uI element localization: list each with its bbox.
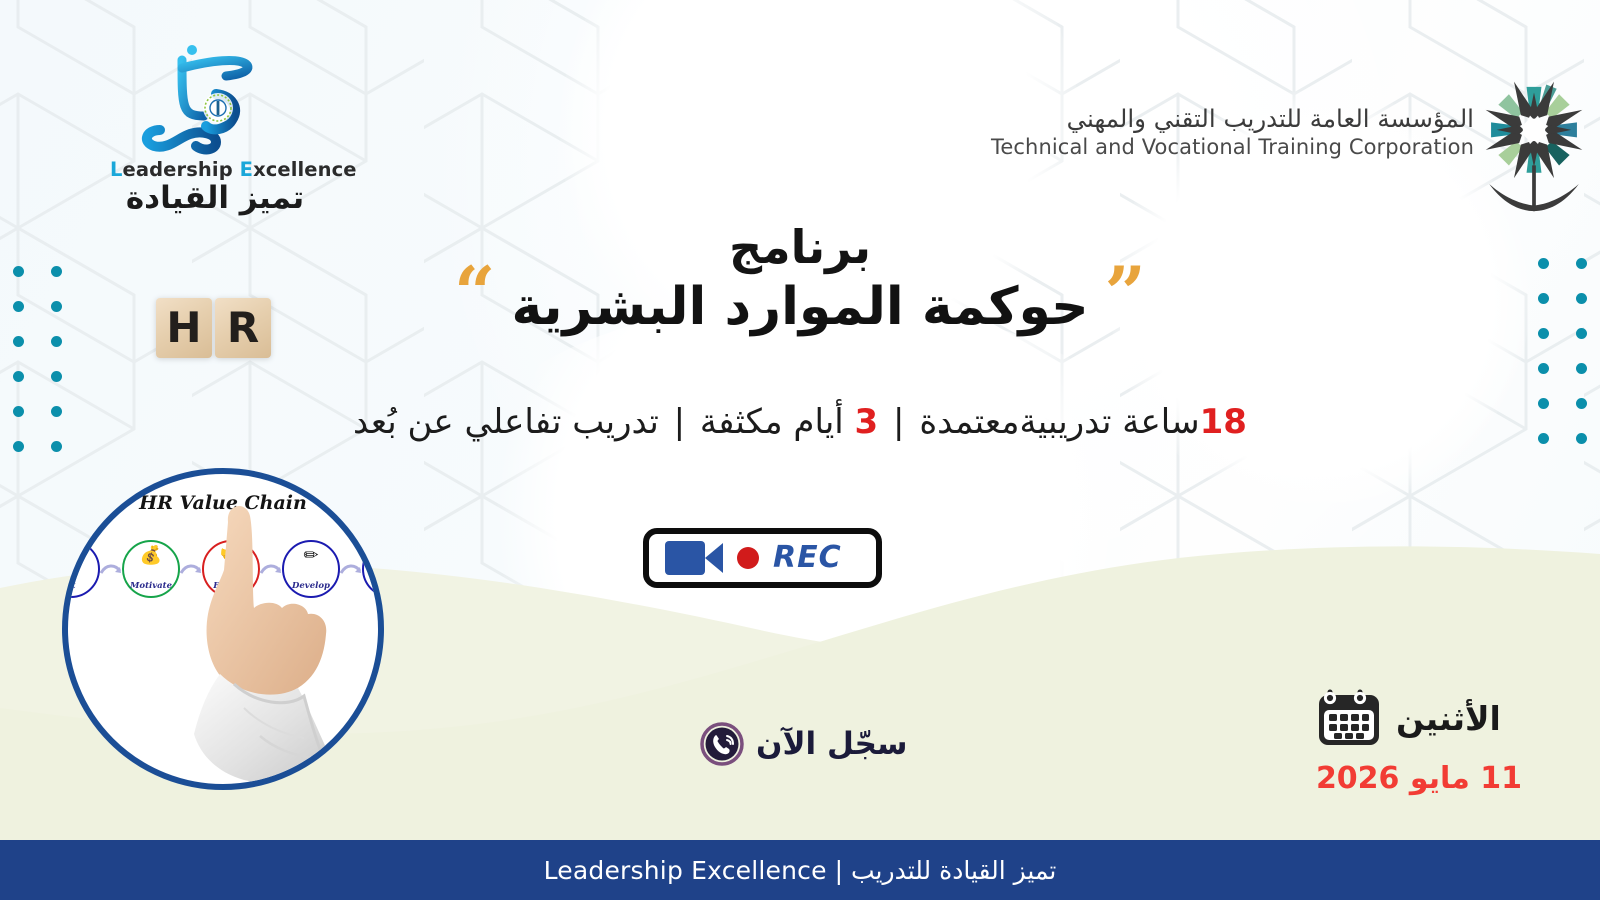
schedule-block: الأثنين <box>1316 686 1522 794</box>
headline-block: برنامج ” حوكمة الموارد البشرية “ <box>0 222 1600 337</box>
viber-phone-call-icon <box>700 722 744 766</box>
video-camera-icon <box>665 541 723 575</box>
dot <box>13 441 24 452</box>
dot <box>51 441 62 452</box>
tvtc-sword-shape <box>1489 165 1579 212</box>
logo-letter-l: L <box>110 158 123 181</box>
dot <box>51 336 62 347</box>
page-title: حوكمة الموارد البشرية <box>511 278 1088 338</box>
register-now-label: سجّل الآن <box>756 729 907 760</box>
hours-label: ساعة تدريبيةمعتمدة <box>919 402 1199 442</box>
tvtc-arabic-name: المؤسسة العامة للتدريب التقني والمهني <box>991 104 1474 134</box>
dot <box>13 336 24 347</box>
logo-text-xcellence: xcellence <box>253 158 357 181</box>
program-details-line: 18ساعة تدريبيةمعتمدة | 3 أيام مكثفة | تد… <box>0 402 1600 442</box>
delivery-mode-label: تدريب تفاعلي عن بُعد <box>353 402 659 442</box>
dot <box>1576 363 1587 374</box>
tvtc-logo: المؤسسة العامة للتدريب التقني والمهني Te… <box>991 104 1474 160</box>
rec-label: REC <box>773 543 842 573</box>
logo-letter-e: E <box>240 158 253 181</box>
logo-emblem-badge <box>203 93 233 123</box>
details-separator-2: | <box>670 402 689 442</box>
days-label: أيام مكثفة <box>700 402 844 442</box>
recording-badge[interactable]: REC <box>643 528 882 588</box>
day-name-label: الأثنين <box>1396 702 1501 735</box>
footer-text: تميز القيادة للتدريب | Leadership Excell… <box>544 856 1057 885</box>
footer-bar: تميز القيادة للتدريب | Leadership Excell… <box>0 840 1600 900</box>
days-number: 3 <box>855 402 879 442</box>
dot <box>1538 363 1549 374</box>
hours-number: 18 <box>1200 402 1247 442</box>
banner-canvas: Leadership Excellence تميز القيادة المؤس… <box>0 0 1600 900</box>
leadership-excellence-arabic-label: تميز القيادة <box>110 182 320 215</box>
register-now-cta[interactable]: سجّل الآن <box>700 722 907 766</box>
leadership-excellence-logo: Leadership Excellence تميز القيادة <box>110 38 320 215</box>
logo-text-eadership: eadership <box>123 158 240 181</box>
tvtc-starburst-emblem <box>1478 72 1590 212</box>
tvtc-english-name: Technical and Vocational Training Corpor… <box>991 135 1474 160</box>
leadership-excellence-calligraphy-mark <box>110 38 320 156</box>
quote-close-icon: ” <box>1105 271 1146 316</box>
value-chain-node-label: ct <box>66 582 75 597</box>
event-date-label: 11 مايو 2026 <box>1316 764 1522 794</box>
value-chain-node: 👥 ct <box>62 540 100 598</box>
calendar-icon <box>1316 686 1382 750</box>
hr-value-chain-photo: HR Value Chain 👥 ct 💰 Motivate 🤝 Engage <box>62 468 384 790</box>
attract-icon: 👥 <box>62 547 98 565</box>
hand-pointing-photo <box>164 496 384 786</box>
quote-open-icon: “ <box>454 271 495 316</box>
leadership-excellence-english-label: Leadership Excellence <box>110 158 320 181</box>
record-dot-icon <box>737 547 759 569</box>
program-kicker: برنامج <box>0 222 1600 274</box>
flow-arrow-icon <box>100 562 122 576</box>
details-separator-1: | <box>889 402 908 442</box>
dot <box>51 371 62 382</box>
dot <box>13 371 24 382</box>
